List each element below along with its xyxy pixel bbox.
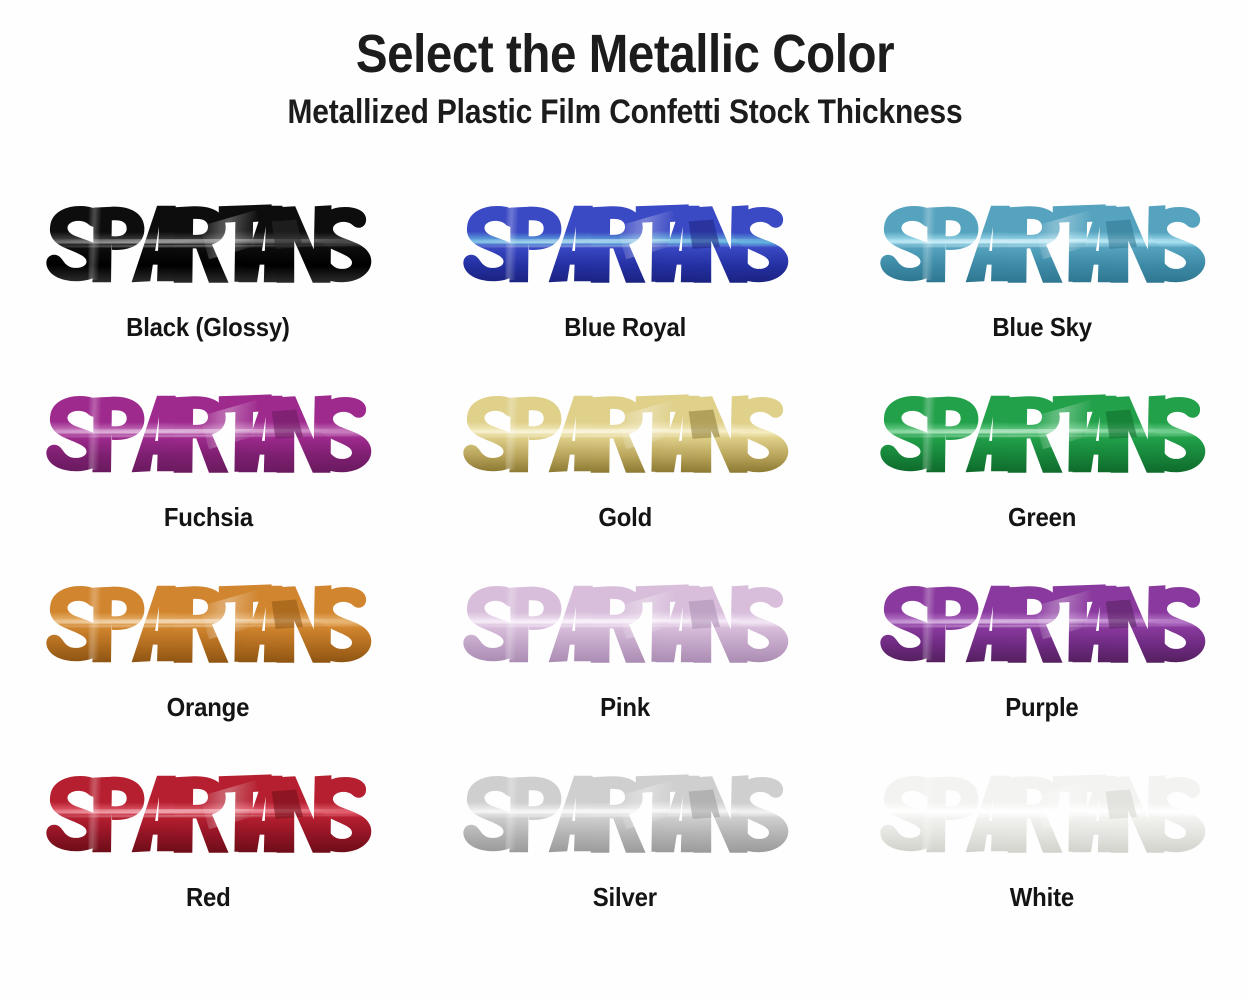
spartans-wordmark-green[interactable]	[872, 382, 1212, 486]
color-swatch-option-black-glossy[interactable]: Black (Glossy)	[0, 186, 417, 376]
spartans-wordmark-svg	[38, 576, 378, 672]
spartans-wordmark-pink[interactable]	[455, 572, 795, 676]
spartans-wordmark-red[interactable]	[38, 762, 378, 866]
spartans-wordmark-svg	[872, 576, 1212, 672]
spartans-wordmark-svg	[872, 766, 1212, 862]
page-subtitle: Metallized Plastic Film Confetti Stock T…	[75, 95, 1175, 131]
spartans-wordmark-gold[interactable]	[455, 382, 795, 486]
color-swatch-option-blue-sky[interactable]: Blue Sky	[833, 186, 1250, 376]
spartans-wordmark-svg	[38, 196, 378, 292]
spartans-wordmark-svg	[38, 766, 378, 862]
spartans-wordmark-silver[interactable]	[455, 762, 795, 866]
color-name-label-gold: Gold	[598, 502, 652, 533]
color-swatch-option-orange[interactable]: Orange	[0, 566, 417, 756]
spartans-wordmark-svg	[455, 386, 795, 482]
metallic-color-selector-page: Select the Metallic Color Metallized Pla…	[0, 0, 1250, 1000]
spartans-wordmark-svg	[872, 196, 1212, 292]
spartans-wordmark-purple[interactable]	[872, 572, 1212, 676]
color-name-label-green: Green	[1008, 502, 1076, 533]
color-swatch-grid: Black (Glossy) Blue Royal Blue Sky Fuchs…	[0, 186, 1250, 946]
color-name-label-black-glossy: Black (Glossy)	[127, 312, 291, 343]
color-name-label-purple: Purple	[1005, 692, 1078, 723]
color-swatch-option-gold[interactable]: Gold	[417, 376, 834, 566]
spartans-wordmark-orange[interactable]	[38, 572, 378, 676]
spartans-wordmark-svg	[38, 386, 378, 482]
color-name-label-fuchsia: Fuchsia	[164, 502, 253, 533]
spartans-wordmark-svg	[455, 766, 795, 862]
color-name-label-silver: Silver	[593, 882, 657, 913]
spartans-wordmark-svg	[455, 196, 795, 292]
color-swatch-option-pink[interactable]: Pink	[417, 566, 834, 756]
color-name-label-orange: Orange	[167, 692, 250, 723]
page-title: Select the Metallic Color	[75, 26, 1175, 83]
spartans-wordmark-blue-royal[interactable]	[455, 192, 795, 296]
spartans-wordmark-svg	[872, 386, 1212, 482]
color-swatch-option-silver[interactable]: Silver	[417, 756, 834, 946]
color-swatch-option-green[interactable]: Green	[833, 376, 1250, 566]
spartans-wordmark-black-glossy[interactable]	[38, 192, 378, 296]
color-name-label-blue-sky: Blue Sky	[992, 312, 1092, 343]
spartans-wordmark-fuchsia[interactable]	[38, 382, 378, 486]
color-swatch-option-white[interactable]: White	[833, 756, 1250, 946]
page-header: Select the Metallic Color Metallized Pla…	[0, 0, 1250, 130]
color-swatch-option-fuchsia[interactable]: Fuchsia	[0, 376, 417, 566]
color-name-label-blue-royal: Blue Royal	[564, 312, 686, 343]
color-name-label-white: White	[1010, 882, 1074, 913]
spartans-wordmark-blue-sky[interactable]	[872, 192, 1212, 296]
color-swatch-option-purple[interactable]: Purple	[833, 566, 1250, 756]
color-swatch-option-red[interactable]: Red	[0, 756, 417, 946]
spartans-wordmark-svg	[455, 576, 795, 672]
color-name-label-pink: Pink	[600, 692, 650, 723]
color-name-label-red: Red	[186, 882, 231, 913]
spartans-wordmark-white[interactable]	[872, 762, 1212, 866]
color-swatch-option-blue-royal[interactable]: Blue Royal	[417, 186, 834, 376]
